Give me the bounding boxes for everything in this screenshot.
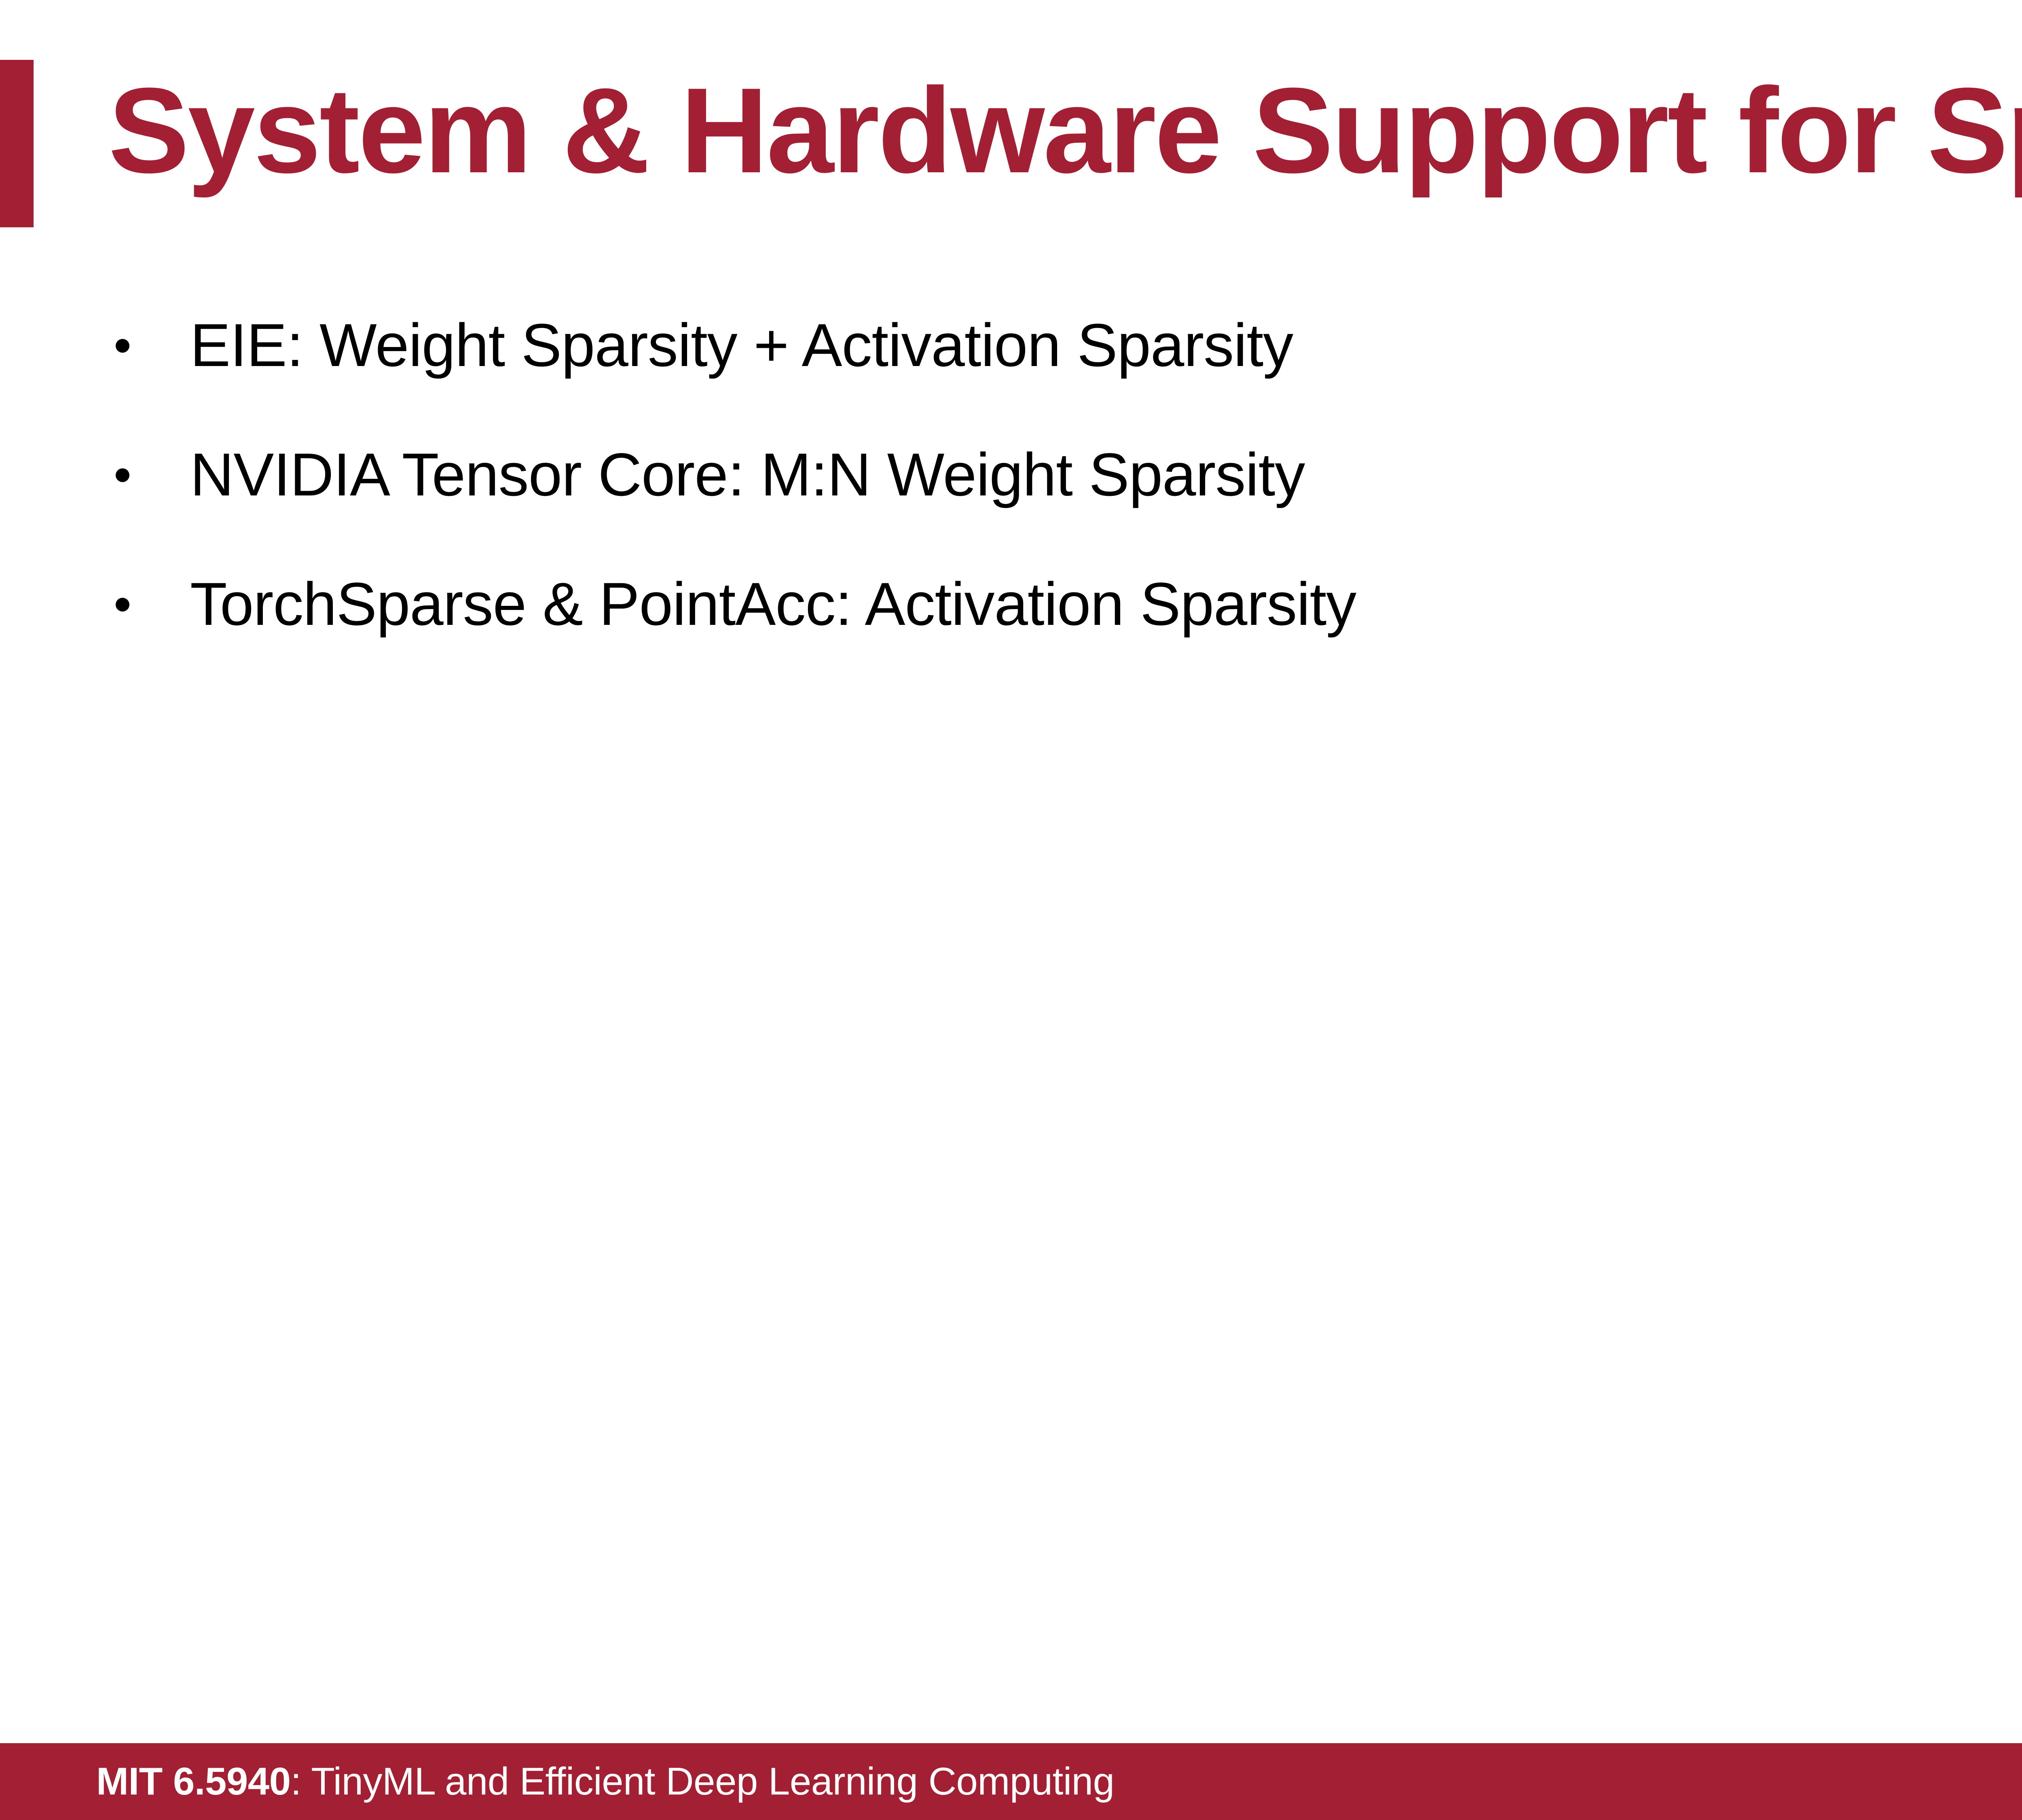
bullet-dot-icon — [116, 598, 129, 612]
footer-course-name: : TinyML and Efficient Deep Learning Com… — [291, 1760, 1115, 1803]
footer-bar: MIT 6.5940: TinyML and Efficient Deep Le… — [0, 1743, 2022, 1820]
bullet-text: EIE: Weight Sparsity + Activation Sparsi… — [190, 307, 1293, 383]
list-item: TorchSparse & PointAcc: Activation Spars… — [0, 566, 2022, 696]
footer-course-code: MIT 6.5940 — [96, 1760, 291, 1803]
title-row: System & Hardware Support for Sparsity — [0, 60, 2022, 230]
bullet-dot-icon — [116, 468, 129, 482]
bullet-list: EIE: Weight Sparsity + Activation Sparsi… — [0, 307, 2022, 696]
title-accent-bar — [0, 60, 34, 227]
footer-course-label: MIT 6.5940: TinyML and Efficient Deep Le… — [96, 1761, 1114, 1802]
page-title: System & Hardware Support for Sparsity — [108, 45, 2022, 215]
slide-canvas: System & Hardware Support for Sparsity E… — [0, 0, 2022, 1820]
bullet-dot-icon — [116, 339, 129, 353]
bullet-text: NVIDIA Tensor Core: M:N Weight Sparsity — [190, 437, 1305, 512]
list-item: NVIDIA Tensor Core: M:N Weight Sparsity — [0, 437, 2022, 566]
list-item: EIE: Weight Sparsity + Activation Sparsi… — [0, 307, 2022, 437]
bullet-text: TorchSparse & PointAcc: Activation Spars… — [190, 566, 1356, 641]
